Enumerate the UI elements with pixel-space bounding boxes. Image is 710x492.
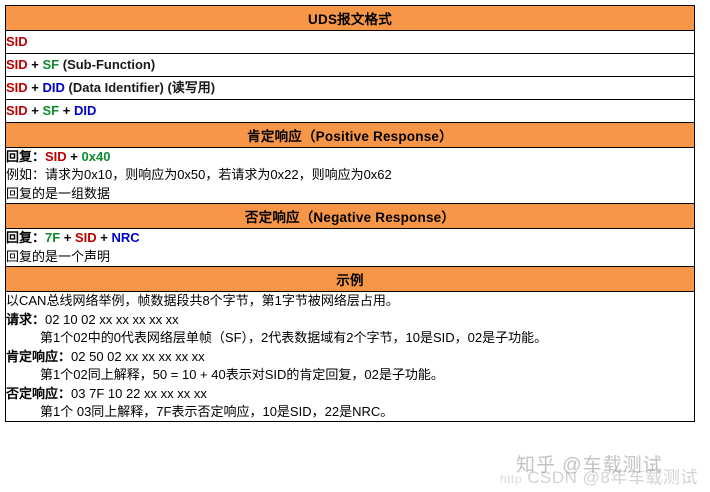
text-run-did: DID: [43, 80, 65, 95]
text-run-sf: SF: [43, 103, 60, 118]
text-run-sid: SID: [6, 80, 28, 95]
text-run-plus: +: [67, 149, 82, 164]
text-run-blk: 02 10 02 xx xx xx xx xx: [45, 312, 179, 327]
table-row: UDS报文格式: [6, 6, 695, 31]
format-row-2-line: SID + DID (Data Identifier) (读写用): [6, 77, 694, 99]
negative-line-1: 回复的是一个声明: [6, 248, 694, 266]
csdn-watermark: http CSDN @8年车载测试: [500, 463, 698, 488]
text-run-bold: 回复：: [6, 149, 45, 164]
format-row-1: SID + SF (Sub-Function): [6, 54, 695, 77]
text-run-blk: 例如：请求为0x10，则响应为0x50，若请求为0x22，则响应为0x62: [6, 167, 392, 182]
text-run-blk: 02 50 02 xx xx xx xx xx: [71, 349, 205, 364]
table-row: SID + DID (Data Identifier) (读写用): [6, 77, 695, 100]
example-line-5: 否定响应：03 7F 10 22 xx xx xx xx: [6, 385, 694, 403]
text-run-sid: SID: [45, 149, 67, 164]
negative-response-body: 回复：7F + SID + NRC 回复的是一个声明: [6, 229, 695, 267]
example-line-1: 请求：02 10 02 xx xx xx xx xx: [6, 311, 694, 329]
text-run-paren: (读写用): [164, 80, 215, 95]
text-run-sid: SID: [75, 230, 97, 245]
text-run-blk: 第1个02同上解释，50 = 10 + 40表示对SID的肯定回复，02是子功能…: [40, 367, 444, 382]
text-run-bold: 请求：: [6, 312, 45, 327]
text-run-nrc: NRC: [112, 230, 140, 245]
csdn-watermark-text: CSDN @8年车载测试: [527, 468, 698, 487]
text-run-plus: +: [28, 103, 43, 118]
text-run-sf: SF: [43, 57, 60, 72]
text-run-bold: 肯定响应：: [6, 349, 71, 364]
zhihu-watermark: 知乎 @车载测试: [516, 450, 663, 477]
table-row: 否定响应（Negative Response）: [6, 204, 695, 229]
format-row-0: SID: [6, 31, 695, 54]
text-run-hexg: 0x40: [82, 149, 111, 164]
text-run-plus: +: [60, 230, 75, 245]
format-row-0-line: SID: [6, 31, 694, 53]
positive-line-1: 例如：请求为0x10，则响应为0x50，若请求为0x22，则响应为0x62: [6, 166, 694, 184]
page-root: UDS报文格式 SID SID + SF (Sub-Function) SID …: [0, 0, 710, 492]
table-row: 肯定响应（Positive Response）: [6, 123, 695, 148]
example-line-2: 第1个02中的0代表网络层单帧（SF），2代表数据域有2个字节，10是SID，0…: [6, 329, 694, 347]
text-run-sid: SID: [6, 34, 28, 49]
table-body: UDS报文格式 SID SID + SF (Sub-Function) SID …: [6, 6, 695, 422]
text-run-plus: +: [97, 230, 112, 245]
text-run-plus: +: [59, 103, 74, 118]
example-line-0: 以CAN总线网络举例，帧数据段共8个字节，第1字节被网络层占用。: [6, 292, 694, 310]
section-header-positive-response: 肯定响应（Positive Response）: [6, 123, 695, 148]
example-line-4: 第1个02同上解释，50 = 10 + 40表示对SID的肯定回复，02是子功能…: [6, 366, 694, 384]
csdn-watermark-prefix: http: [500, 472, 522, 486]
table-row: 示例: [6, 267, 695, 292]
format-row-1-line: SID + SF (Sub-Function): [6, 54, 694, 76]
text-run-bold: 回复：: [6, 230, 45, 245]
section-header-negative-response: 否定响应（Negative Response）: [6, 204, 695, 229]
table-row: 回复：7F + SID + NRC 回复的是一个声明: [6, 229, 695, 267]
uds-message-format-table: UDS报文格式 SID SID + SF (Sub-Function) SID …: [5, 5, 695, 422]
example-line-6: 第1个 03同上解释，7F表示否定响应，10是SID，22是NRC。: [6, 403, 694, 421]
section-header-format: UDS报文格式: [6, 6, 695, 31]
positive-line-0: 回复：SID + 0x40: [6, 148, 694, 166]
example-line-3: 肯定响应：02 50 02 xx xx xx xx xx: [6, 348, 694, 366]
format-row-3: SID + SF + DID: [6, 100, 695, 123]
positive-line-2: 回复的是一组数据: [6, 185, 694, 203]
text-run-blk: 回复的是一组数据: [6, 186, 110, 201]
table-row: SID: [6, 31, 695, 54]
text-run-sid: SID: [6, 57, 28, 72]
text-run-blk: 第1个 03同上解释，7F表示否定响应，10是SID，22是NRC。: [40, 404, 393, 419]
text-run-did: DID: [74, 103, 96, 118]
table-row: 以CAN总线网络举例，帧数据段共8个字节，第1字节被网络层占用。 请求：02 1…: [6, 292, 695, 422]
text-run-blk: 第1个02中的0代表网络层单帧（SF），2代表数据域有2个字节，10是SID，0…: [40, 330, 547, 345]
text-run-plus: +: [28, 80, 43, 95]
text-run-blk: 03 7F 10 22 xx xx xx xx: [71, 386, 207, 401]
text-run-bold: 否定响应：: [6, 386, 71, 401]
negative-line-0: 回复：7F + SID + NRC: [6, 229, 694, 247]
format-row-2: SID + DID (Data Identifier) (读写用): [6, 77, 695, 100]
positive-response-body: 回复：SID + 0x40 例如：请求为0x10，则响应为0x50，若请求为0x…: [6, 148, 695, 204]
format-row-3-line: SID + SF + DID: [6, 100, 694, 122]
text-run-blk: 回复的是一个声明: [6, 249, 110, 264]
text-run-blk: 以CAN总线网络举例，帧数据段共8个字节，第1字节被网络层占用。: [6, 293, 399, 308]
example-body: 以CAN总线网络举例，帧数据段共8个字节，第1字节被网络层占用。 请求：02 1…: [6, 292, 695, 422]
table-row: SID + SF + DID: [6, 100, 695, 123]
text-run-hexg: 7F: [45, 230, 60, 245]
text-run-paren: (Data Identifier): [65, 80, 164, 95]
table-row: 回复：SID + 0x40 例如：请求为0x10，则响应为0x50，若请求为0x…: [6, 148, 695, 204]
text-run-sid: SID: [6, 103, 28, 118]
text-run-paren: (Sub-Function): [59, 57, 155, 72]
section-header-example: 示例: [6, 267, 695, 292]
text-run-plus: +: [28, 57, 43, 72]
table-row: SID + SF (Sub-Function): [6, 54, 695, 77]
